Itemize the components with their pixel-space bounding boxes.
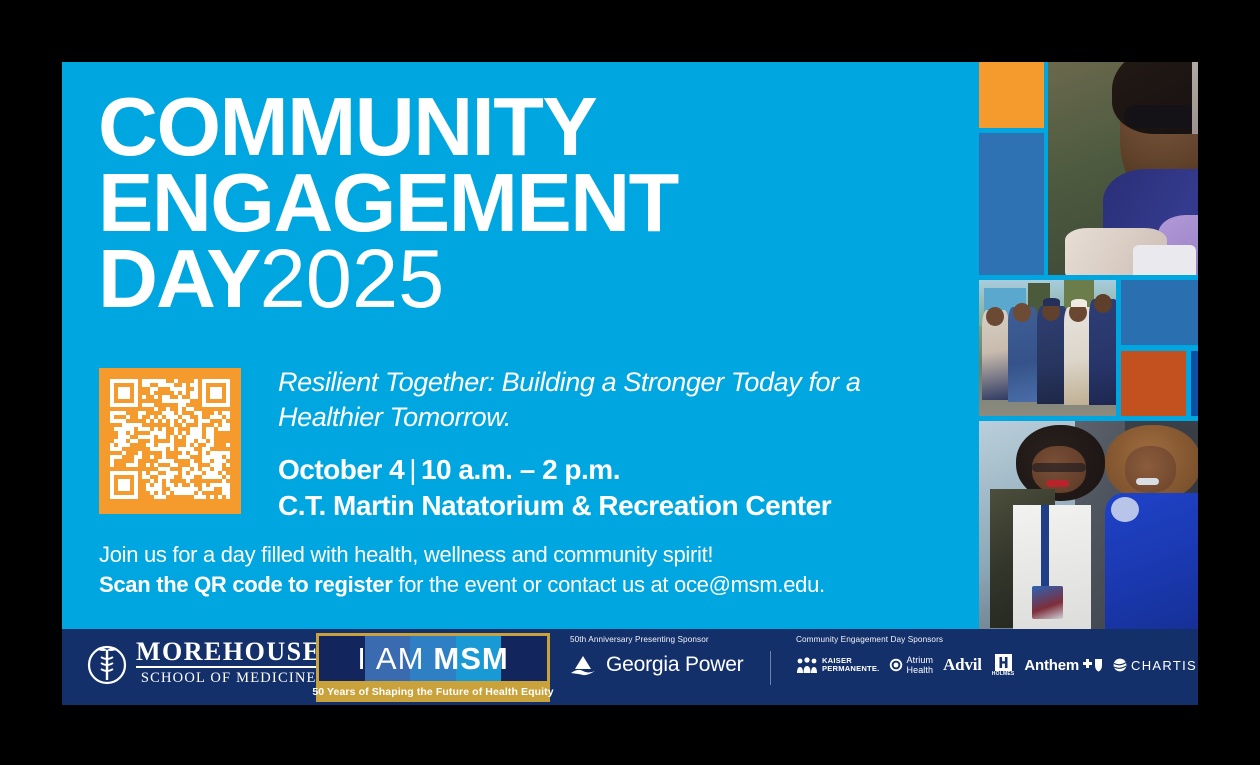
day-sponsors-group: Community Engagement Day Sponsors KAISER (796, 635, 1198, 680)
holmes-name: HOLMES (992, 671, 1015, 677)
volunteers-group-photo (979, 280, 1116, 416)
i-am-msm-text: I AM MSM (319, 636, 547, 681)
day-sponsors-row: KAISER PERMANENTE. Atrium Health (796, 650, 1198, 680)
presenting-sponsor-row: Georgia Power (570, 650, 743, 680)
sponsor-anthem: Anthem (1024, 650, 1103, 680)
event-time: 10 a.m. – 2 p.m. (421, 454, 620, 485)
sponsor-kaiser-permanente: KAISER PERMANENTE. (796, 650, 879, 680)
closing-copy: Join us for a day filled with health, we… (99, 540, 919, 600)
anthem-cross-shield-icon (1082, 658, 1103, 672)
sponsor-divider (770, 651, 771, 685)
collage-swatch-orange (979, 62, 1044, 128)
closing-line-1: Join us for a day filled with health, we… (99, 540, 919, 570)
poster-canvas: COMMUNITY ENGAGEMENT DAY2025 Resilient T… (0, 0, 1260, 765)
morehouse-rule (136, 666, 321, 668)
collage-swatch-rust (1121, 351, 1186, 416)
i-am-msm-i: I (357, 641, 367, 677)
georgia-power-name: Georgia Power (606, 653, 743, 677)
georgia-power-icon (570, 654, 596, 676)
closing-cta: Scan the QR code to register (99, 572, 393, 597)
footer-bar: MOREHOUSE SCHOOL OF MEDICINE I (62, 629, 1198, 705)
sponsors-section: 50th Anniversary Presenting Sponsor Geor… (570, 635, 1192, 699)
atrium-swirl-icon (889, 658, 903, 672)
headline-line-3: DAY2025 (98, 241, 898, 317)
kaiser-people-icon (796, 657, 818, 674)
sponsor-holmes: HOLMES (992, 654, 1015, 677)
event-details: October 4|10 a.m. – 2 p.m. C.T. Martin N… (278, 452, 928, 524)
event-date: October 4 (278, 454, 404, 485)
day-sponsors-label: Community Engagement Day Sponsors (796, 635, 1198, 644)
page-title: COMMUNITY ENGAGEMENT DAY2025 (98, 89, 898, 317)
presenting-sponsor-label: 50th Anniversary Presenting Sponsor (570, 635, 743, 644)
i-am-msm-am: AM (376, 641, 425, 677)
detail-separator: | (404, 454, 421, 485)
event-date-time-line: October 4|10 a.m. – 2 p.m. (278, 452, 928, 488)
chartis-name: CHARTIS (1131, 658, 1197, 673)
two-women-smiling-photo (979, 421, 1198, 632)
closing-line-2: Scan the QR code to register for the eve… (99, 570, 919, 600)
presenting-sponsor-group: 50th Anniversary Presenting Sponsor Geor… (570, 635, 743, 680)
photo-collage (917, 62, 1198, 632)
collage-swatch-blue-medium (979, 133, 1044, 275)
sponsor-chartis: CHARTIS (1113, 650, 1197, 680)
event-venue: C.T. Martin Natatorium & Recreation Cent… (278, 488, 928, 524)
morehouse-logo: MOREHOUSE SCHOOL OF MEDICINE (86, 638, 322, 695)
headline-line-2: ENGAGEMENT (98, 165, 898, 241)
event-tagline: Resilient Together: Building a Stronger … (278, 365, 898, 435)
closing-contact: for the event or contact us at oce@msm.e… (393, 572, 825, 597)
i-am-msm-logo: I AM MSM 50 Years of Shaping the Future … (316, 633, 550, 702)
qr-code[interactable] (99, 368, 241, 514)
i-am-msm-tagline: 50 Years of Shaping the Future of Health… (319, 681, 547, 702)
collage-swatch-blue-mid (1121, 280, 1198, 345)
morehouse-name: MOREHOUSE (136, 638, 321, 665)
sponsor-atrium-health: Atrium Health (889, 650, 933, 680)
sponsor-advil: Advil (943, 655, 982, 675)
chartis-globe-icon (1113, 658, 1127, 672)
headline-year: 2025 (260, 232, 445, 325)
i-am-msm-msm: MSM (433, 641, 508, 677)
headline-day: DAY (98, 232, 260, 325)
collage-swatch-blue-deep (1191, 351, 1198, 416)
kaiser-name: KAISER PERMANENTE. (822, 657, 879, 674)
morehouse-subtitle: SCHOOL OF MEDICINE (136, 669, 321, 687)
poster-main-panel: COMMUNITY ENGAGEMENT DAY2025 Resilient T… (62, 62, 1198, 705)
anthem-name: Anthem (1024, 657, 1079, 674)
caduceus-icon (86, 640, 128, 686)
qr-code-modules (110, 379, 230, 503)
holmes-h-icon (995, 654, 1012, 671)
student-drawing-blood-photo (1048, 62, 1198, 275)
atrium-name: Atrium Health (906, 655, 933, 675)
headline-line-1: COMMUNITY (98, 89, 898, 165)
